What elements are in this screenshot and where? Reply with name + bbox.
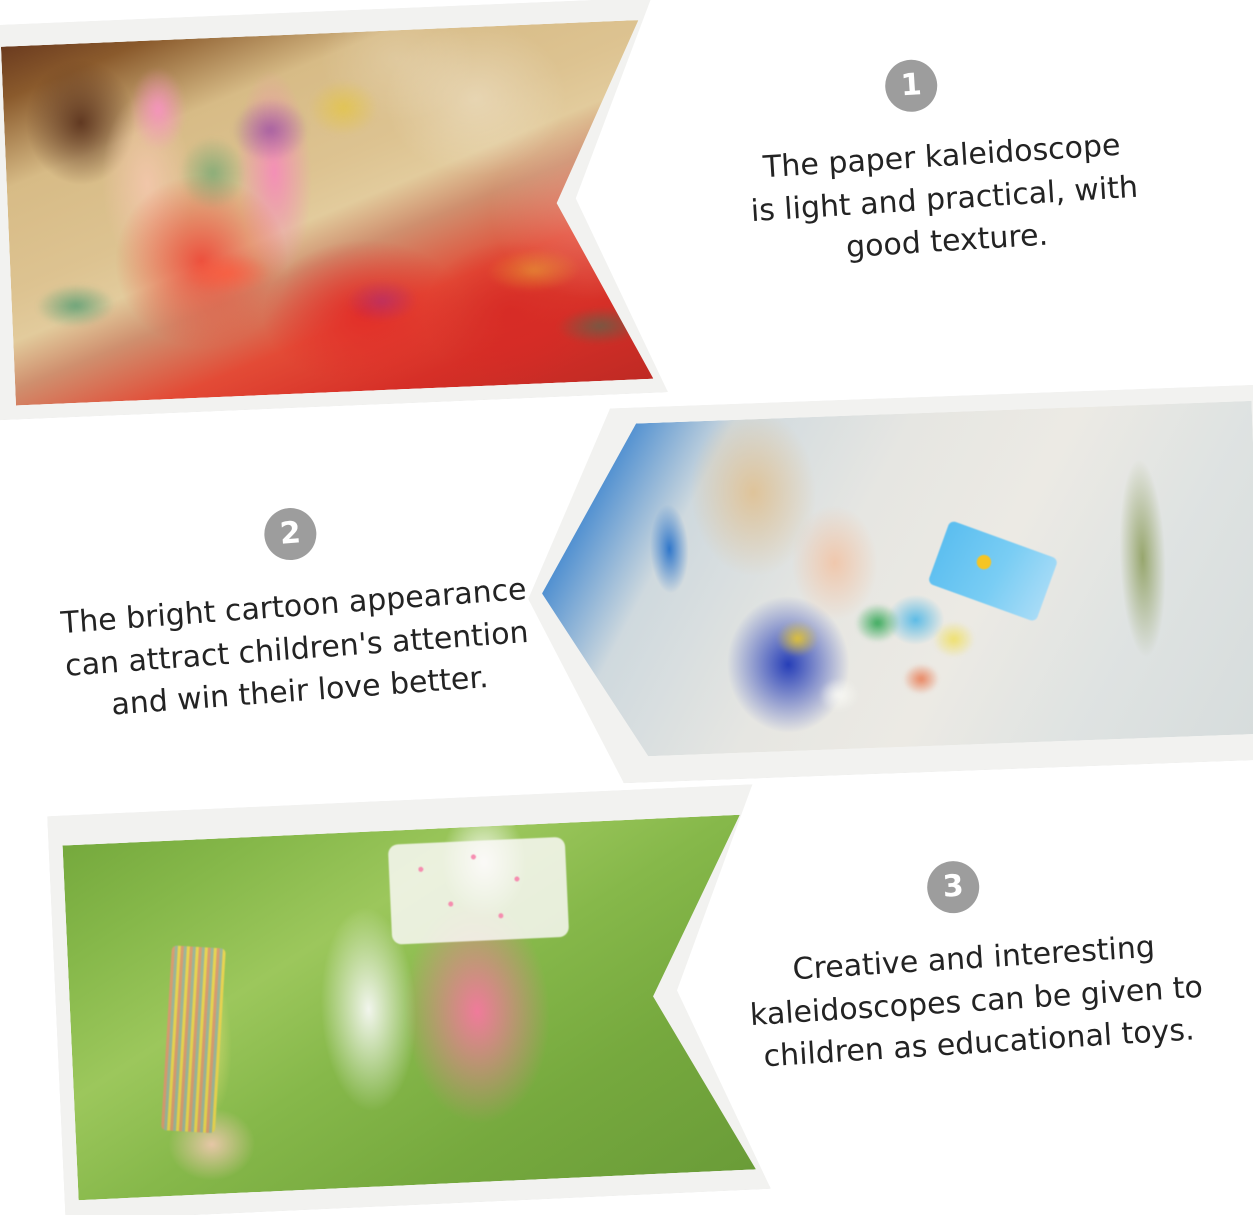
- feature-caption-1: The paper kaleidoscope is light and prac…: [665, 119, 1224, 281]
- photo-toddler-pink-kaleidoscope: [1, 20, 653, 405]
- feature-photo-1: [0, 0, 668, 421]
- step-badge-2: 2: [263, 506, 319, 562]
- photo-girl-yellow-kaleidoscope: [63, 815, 756, 1200]
- feature-text-2: 2 The bright cartoon appearance can attr…: [7, 488, 581, 734]
- step-badge-3: 3: [926, 860, 981, 915]
- feature-text-1: 1 The paper kaleidoscope is light and pr…: [660, 41, 1224, 281]
- product-feature-infographic: 1 The paper kaleidoscope is light and pr…: [0, 0, 1253, 1215]
- photo-boy-blue-kaleidoscope: [536, 401, 1253, 760]
- feature-photo-3: [47, 784, 771, 1215]
- feature-text-3: 3 Creative and interesting kaleidoscopes…: [700, 843, 1248, 1082]
- feature-caption-2: The bright cartoon appearance can attrac…: [13, 566, 581, 734]
- feature-caption-3: Creative and interesting kaleidoscopes c…: [705, 921, 1248, 1082]
- step-badge-1: 1: [884, 58, 939, 113]
- feature-photo-2: [521, 385, 1253, 787]
